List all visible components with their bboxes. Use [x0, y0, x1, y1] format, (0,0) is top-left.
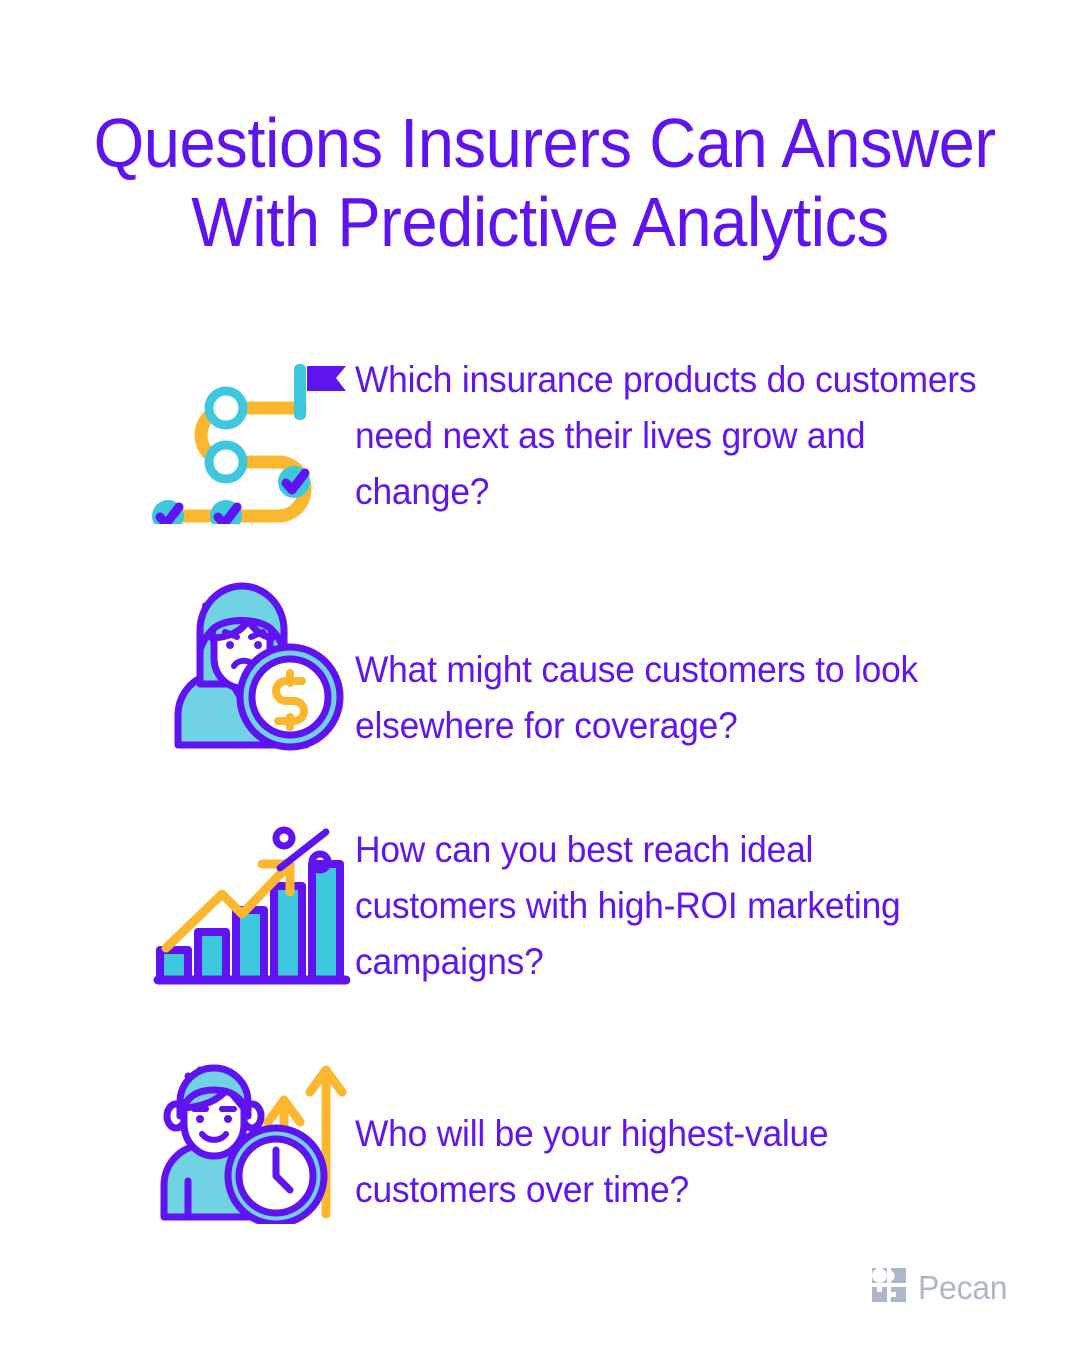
question-text: Which insurance products do customers ne…: [355, 352, 981, 520]
list-item: Who will be your highest-value customers…: [0, 1036, 1080, 1268]
roadmap-flag-icon: [145, 340, 355, 524]
question-text-wrapper: Who will be your highest-value customers…: [355, 1036, 1080, 1218]
pecan-logo-icon: [871, 1267, 907, 1308]
list-item: What might cause customers to look elsew…: [0, 572, 1080, 804]
question-list: Which insurance products do customers ne…: [0, 340, 1080, 1268]
page-title-line-2: With Predictive Analytics: [94, 183, 987, 262]
question-text: Who will be your highest-value customers…: [355, 1106, 981, 1218]
customer-clock-growth-icon: [145, 1036, 355, 1224]
page-title-line-1: Questions Insurers Can Answer: [94, 104, 987, 183]
list-item: How can you best reach ideal customers w…: [0, 804, 1080, 1036]
sad-customer-coin-icon: [145, 572, 355, 752]
question-text-wrapper: What might cause customers to look elsew…: [355, 572, 1080, 754]
infographic-poster: Questions Insurers Can Answer With Predi…: [0, 0, 1080, 1350]
brand-footer: Pecan: [871, 1267, 1010, 1308]
question-text-wrapper: How can you best reach ideal customers w…: [355, 804, 1080, 990]
question-text-wrapper: Which insurance products do customers ne…: [355, 340, 1080, 520]
brand-name: Pecan: [918, 1271, 1007, 1304]
question-text: How can you best reach ideal customers w…: [355, 822, 981, 990]
list-item: Which insurance products do customers ne…: [0, 340, 1080, 572]
growth-bar-chart-percent-icon: [145, 804, 355, 992]
page-title: Questions Insurers Can Answer With Predi…: [0, 104, 1080, 262]
question-text: What might cause customers to look elsew…: [355, 642, 981, 754]
